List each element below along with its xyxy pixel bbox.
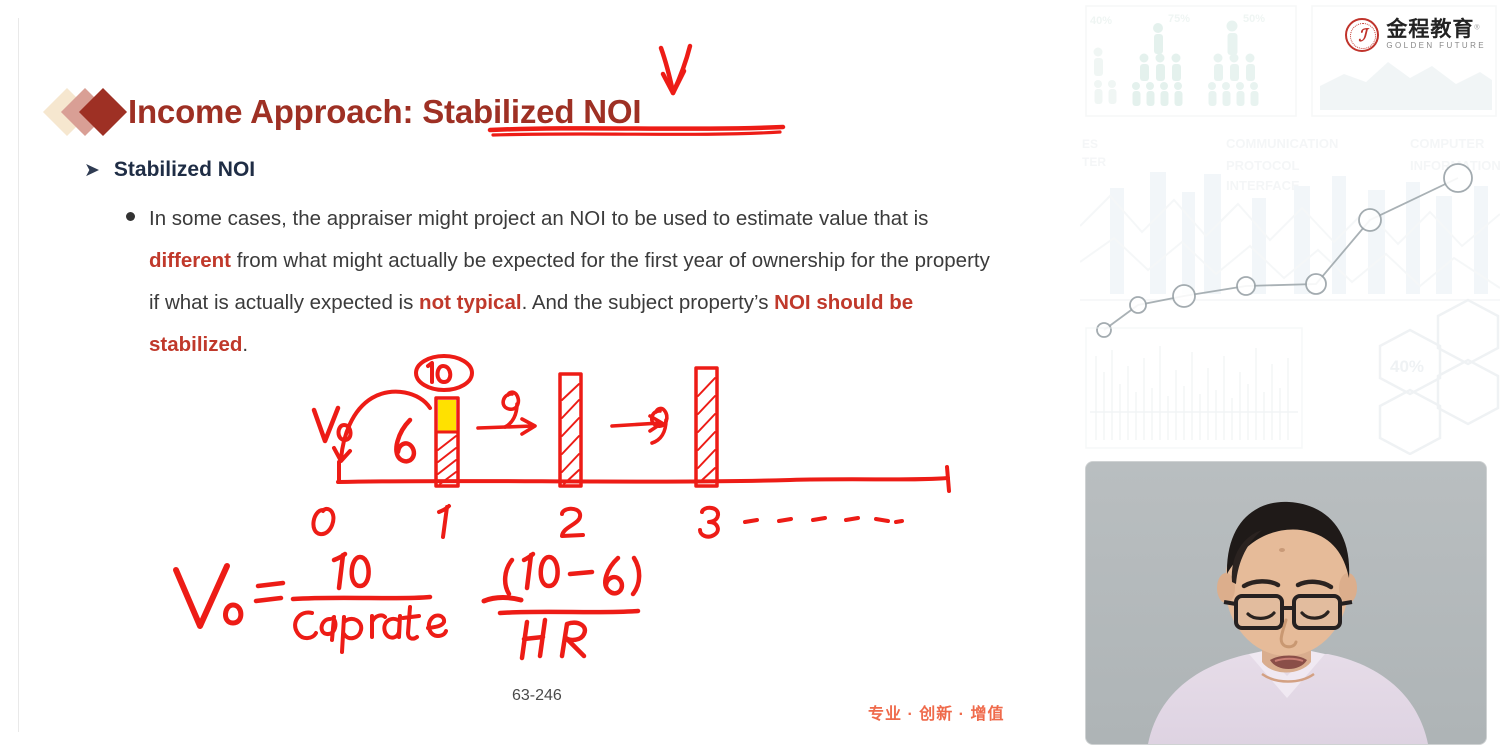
brand-name-block: 金程教育® GOLDEN FUTURE [1386, 19, 1486, 51]
slide-left-divider [18, 18, 19, 732]
presentation-slide: Income Approach: Stabilized NOI ➤ Stabil… [0, 0, 1080, 750]
subheading-row: ➤ Stabilized NOI [84, 158, 255, 182]
seal-glyph: ℐ [1358, 27, 1366, 44]
svg-text:40%: 40% [1390, 357, 1424, 376]
body-paragraph-row: In some cases, the appraiser might proje… [126, 198, 1006, 366]
svg-text:PROTOCOL: PROTOCOL [1226, 158, 1299, 173]
seal-icon: ℐ [1345, 18, 1379, 52]
svg-text:50%: 50% [1243, 13, 1265, 25]
instructor-video-frame [1086, 462, 1486, 744]
background-infographic: 40% 75% 50% ES TER COMMUNICATION PROTOCO… [1080, 0, 1500, 455]
brand-name-en: GOLDEN FUTURE [1386, 41, 1486, 51]
svg-text:INTERFACE: INTERFACE [1226, 178, 1300, 193]
brand-name-cn: 金程教育 [1386, 18, 1474, 41]
svg-text:ES: ES [1082, 137, 1098, 151]
svg-text:75%: 75% [1168, 13, 1190, 25]
instructor-video[interactable] [1086, 462, 1486, 744]
brand-logo: ℐ 金程教育® GOLDEN FUTURE [1345, 18, 1486, 52]
svg-text:COMPUTER: COMPUTER [1410, 136, 1485, 151]
body-paragraph: In some cases, the appraiser might proje… [149, 198, 999, 366]
svg-text:COMMUNICATION: COMMUNICATION [1226, 136, 1338, 151]
brand-slogan: 专业 · 创新 · 增值 [868, 700, 1004, 724]
arrow-bullet-icon: ➤ [84, 161, 100, 180]
right-panel: 40% 75% 50% ES TER COMMUNICATION PROTOCO… [1080, 0, 1500, 750]
slide-title-row: Income Approach: Stabilized NOI [50, 83, 641, 141]
registered-mark-icon: ® [1474, 24, 1479, 31]
diamond-bullet-icon [50, 89, 128, 135]
page-title: Income Approach: Stabilized NOI [128, 93, 641, 131]
slide-screenshot: Income Approach: Stabilized NOI ➤ Stabil… [0, 0, 1500, 750]
round-bullet-icon [126, 212, 135, 221]
subheading-label: Stabilized NOI [114, 158, 255, 182]
svg-text:TER: TER [1082, 155, 1106, 169]
svg-text:40%: 40% [1090, 15, 1112, 27]
page-number: 63-246 [512, 687, 562, 705]
